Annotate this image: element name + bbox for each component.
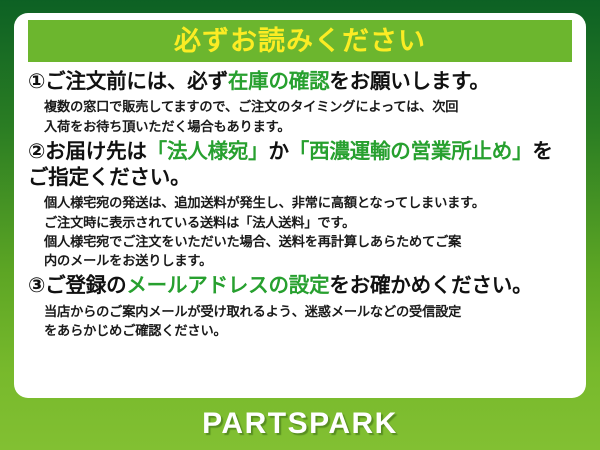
- notice-item-heading: ②お届け先は「法人様宛」か「西濃運輸の営業所止め」をご指定ください。: [28, 139, 572, 191]
- heading-text: お届け先は: [45, 140, 147, 163]
- brand-logo-text: PARTSPARK: [202, 409, 398, 439]
- notice-item-body: 当店からのご案内メールが受け取れるよう、迷惑メールなどの受信設定をあらかじめご確…: [44, 302, 572, 341]
- notice-item-list: ①ご注文前には、必ず在庫の確認をお願いします。複数の窓口で販売してますので、ご注…: [14, 62, 586, 340]
- notice-panel: 必ずお読みください ①ご注文前には、必ず在庫の確認をお願いします。複数の窓口で販…: [14, 13, 586, 398]
- notice-frame: 必ずお読みください ①ご注文前には、必ず在庫の確認をお願いします。複数の窓口で販…: [0, 0, 600, 450]
- notice-body-line: をあらかじめご確認ください。: [44, 321, 572, 340]
- heading-text: をお確かめください。: [329, 274, 532, 297]
- circled-number-icon: ②: [28, 140, 45, 163]
- page-title: 必ずお読みください: [174, 28, 426, 55]
- notice-body-line: 当店からのご案内メールが受け取れるよう、迷惑メールなどの受信設定: [44, 302, 572, 321]
- heading-highlight: 「西濃運輸の営業所止め」: [289, 140, 533, 163]
- heading-highlight: メールアドレスの設定: [126, 274, 329, 297]
- heading-text: か: [268, 140, 288, 163]
- notice-item-heading: ①ご注文前には、必ず在庫の確認をお願いします。: [28, 69, 572, 95]
- heading-highlight: 在庫の確認: [228, 70, 330, 93]
- notice-item: ②お届け先は「法人様宛」か「西濃運輸の営業所止め」をご指定ください。個人様宅宛の…: [28, 139, 572, 271]
- notice-item: ①ご注文前には、必ず在庫の確認をお願いします。複数の窓口で販売してますので、ご注…: [28, 69, 572, 136]
- heading-text: ご登録の: [45, 274, 126, 297]
- notice-body-line: 個人様宅宛の発送は、追加送料が発生し、非常に高額となってしまいます。: [44, 193, 572, 212]
- notice-item-heading: ③ご登録のメールアドレスの設定をお確かめください。: [28, 273, 572, 299]
- circled-number-icon: ③: [28, 274, 45, 297]
- notice-body-line: 個人様宅宛でご注文をいただいた場合、送料を再計算しあらためてご案: [44, 232, 572, 251]
- notice-header-bar: 必ずお読みください: [28, 20, 572, 62]
- heading-text: ご注文前には、必ず: [45, 70, 228, 93]
- notice-body-line: 内のメールをお送りします。: [44, 251, 572, 270]
- notice-item: ③ご登録のメールアドレスの設定をお確かめください。当店からのご案内メールが受け取…: [28, 273, 572, 340]
- circled-number-icon: ①: [28, 70, 45, 93]
- notice-item-body: 個人様宅宛の発送は、追加送料が発生し、非常に高額となってしまいます。ご注文時に表…: [44, 193, 572, 270]
- notice-footer: PARTSPARK: [0, 398, 600, 450]
- heading-text: をお願いします。: [329, 70, 489, 93]
- notice-body-line: 複数の窓口で販売してますので、ご注文のタイミングによっては、次回: [44, 97, 572, 116]
- notice-body-line: 入荷をお待ち頂いただく場合もあります。: [44, 117, 572, 136]
- heading-highlight: 「法人様宛」: [147, 140, 269, 163]
- notice-item-body: 複数の窓口で販売してますので、ご注文のタイミングによっては、次回入荷をお待ち頂い…: [44, 97, 572, 136]
- notice-body-line: ご注文時に表示されている送料は「法人送料」です。: [44, 213, 572, 232]
